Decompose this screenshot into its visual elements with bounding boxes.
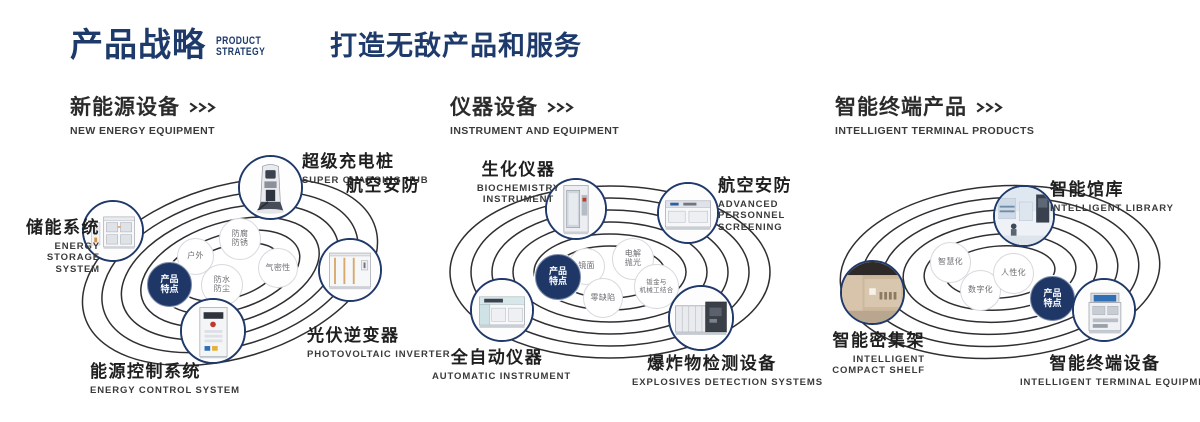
node-photovoltaic-inverter[interactable] — [318, 238, 382, 302]
caption-en: AUTOMATIC INSTRUMENT — [432, 371, 562, 383]
caption-intelligent-library: 智能馆库 INTELLIGENT LIBRARY — [1050, 180, 1190, 214]
core-badge-product-features: 产品 特点 — [535, 254, 581, 300]
caption-biochemistry-instrument: 生化仪器 BIOCHEMISTRY INSTRUMENT — [466, 160, 571, 206]
chevron-right-icon — [976, 102, 1006, 113]
pv-inverter-icon — [320, 240, 380, 300]
explosives-detector-icon — [670, 287, 732, 349]
caption-cn: 航空安防 — [330, 176, 420, 196]
section-title-new-energy: 新能源设备 NEW ENERGY EQUIPMENT — [70, 97, 219, 137]
feature-bubble: 防腐 防锈 — [219, 218, 261, 260]
section-title-instrument: 仪器设备 INSTRUMENT AND EQUIPMENT — [450, 97, 619, 137]
section-title-en: NEW ENERGY EQUIPMENT — [70, 125, 219, 137]
core-line2: 特点 — [160, 284, 178, 294]
caption-cn: 爆炸物检测设备 — [632, 354, 792, 374]
core-line2: 特点 — [1043, 298, 1061, 308]
node-intelligent-compact-shelf[interactable] — [840, 260, 905, 325]
node-advanced-personnel-screening[interactable] — [657, 182, 719, 244]
section-title-en: INSTRUMENT AND EQUIPMENT — [450, 125, 619, 137]
core-badge-product-features: 产品 特点 — [1030, 276, 1075, 321]
caption-cn: 全自动仪器 — [432, 348, 562, 368]
page-title-en: PRODUCT STRATEGY — [216, 36, 265, 59]
feature-line1: 智慧化 — [938, 257, 963, 266]
node-energy-control-system[interactable] — [180, 298, 246, 364]
page-title: 产品战略 — [70, 28, 206, 61]
caption-en: INTELLIGENT COMPACT SHELF — [805, 354, 925, 378]
chevron-right-icon — [189, 102, 219, 113]
caption-en: ENERGY CONTROL SYSTEM — [90, 385, 240, 397]
caption-cn: 智能馆库 — [1050, 180, 1190, 200]
feature-line1: 镜面 — [578, 261, 595, 270]
caption-cn: 超级充电桩 — [302, 152, 429, 172]
section-title-cn: 智能终端产品 — [835, 97, 967, 118]
caption-energy-storage-system: 储能系统 ENERGY STORAGE SYSTEM — [0, 218, 100, 276]
node-super-charging-hub[interactable] — [238, 155, 303, 220]
caption-cn: 生化仪器 — [466, 160, 571, 180]
core-line1: 产品 — [549, 266, 567, 276]
caption-cn: 航空安防 — [718, 176, 813, 196]
product-strategy-infographic: 产品战略 PRODUCT STRATEGY 打造无敌产品和服务 新能源设备 NE… — [0, 0, 1200, 422]
core-line1: 产品 — [160, 274, 178, 284]
caption-cn: 智能密集架 — [805, 331, 925, 351]
caption-energy-control-system: 能源控制系统 ENERGY CONTROL SYSTEM — [90, 362, 240, 396]
feature-line2: 防尘 — [214, 284, 231, 293]
screening-machine-icon — [659, 184, 717, 242]
caption-en: INTELLIGENT TERMINAL EQUIPMENT — [1020, 377, 1190, 389]
section-title-en: INTELLIGENT TERMINAL PRODUCTS — [835, 125, 1034, 137]
caption-en: BIOCHEMISTRY INSTRUMENT — [466, 183, 571, 207]
caption-automatic-instrument: 全自动仪器 AUTOMATIC INSTRUMENT — [432, 348, 562, 382]
page-title-en-line2: STRATEGY — [216, 47, 265, 59]
feature-line2: 机械工结合 — [640, 287, 674, 294]
page-title-en-line1: PRODUCT — [216, 36, 265, 48]
caption-aviation-security-left: 航空安防 — [330, 176, 420, 196]
feature-bubble: 气密性 — [258, 248, 298, 288]
feature-line1: 防腐 — [232, 229, 249, 238]
feature-line1: 电解 — [625, 249, 642, 258]
caption-en: ENERGY STORAGE SYSTEM — [0, 241, 100, 277]
feature-line1: 钣金与 — [646, 279, 666, 286]
node-automatic-instrument[interactable] — [470, 278, 534, 342]
caption-en: EXPLOSIVES DETECTION SYSTEMS — [632, 377, 792, 389]
feature-line2: 抛光 — [625, 258, 642, 267]
section-title-cn: 新能源设备 — [70, 97, 180, 118]
feature-line1: 人性化 — [1001, 268, 1026, 277]
feature-bubble: 人性化 — [993, 253, 1034, 294]
core-line2: 特点 — [549, 276, 567, 286]
feature-line1: 气密性 — [266, 263, 291, 272]
compact-shelf-icon — [842, 262, 903, 323]
page-header: 产品战略 PRODUCT STRATEGY — [70, 28, 279, 61]
feature-line1: 户外 — [187, 251, 204, 260]
caption-en: ADVANCED PERSONNEL SCREENING — [718, 199, 813, 235]
caption-cn: 智能终端设备 — [1020, 354, 1190, 374]
feature-line1: 零缺陷 — [591, 293, 616, 302]
feature-line1: 防水 — [214, 275, 231, 284]
caption-cn: 能源控制系统 — [90, 362, 240, 382]
feature-line1: 数字化 — [968, 285, 993, 294]
charging-pile-icon — [240, 157, 301, 218]
caption-en: INTELLIGENT LIBRARY — [1050, 203, 1190, 215]
node-intelligent-terminal-equipment[interactable] — [1072, 278, 1136, 342]
node-intelligent-library[interactable] — [993, 185, 1055, 247]
caption-intelligent-terminal-equipment: 智能终端设备 INTELLIGENT TERMINAL EQUIPMENT — [1020, 354, 1190, 388]
page-subtitle: 打造无敌产品和服务 — [330, 33, 582, 60]
node-explosives-detection-system[interactable] — [668, 285, 734, 351]
section-title-intelligent-terminal: 智能终端产品 INTELLIGENT TERMINAL PRODUCTS — [835, 97, 1034, 137]
chevron-right-icon — [547, 102, 577, 113]
core-line1: 产品 — [1043, 288, 1061, 298]
self-service-kiosk-icon — [1074, 280, 1134, 340]
feature-bubble: 零缺陷 — [583, 278, 623, 318]
caption-cn: 储能系统 — [0, 218, 100, 238]
automatic-instrument-icon — [472, 280, 532, 340]
feature-line2: 防锈 — [232, 238, 249, 247]
caption-intelligent-compact-shelf: 智能密集架 INTELLIGENT COMPACT SHELF — [805, 331, 925, 377]
caption-advanced-personnel-screening: 航空安防 ADVANCED PERSONNEL SCREENING — [718, 176, 813, 234]
library-interior-icon — [995, 187, 1053, 245]
caption-explosives-detection-system: 爆炸物检测设备 EXPLOSIVES DETECTION SYSTEMS — [632, 354, 792, 388]
control-cabinet-icon — [182, 300, 244, 362]
section-title-cn: 仪器设备 — [450, 97, 538, 118]
